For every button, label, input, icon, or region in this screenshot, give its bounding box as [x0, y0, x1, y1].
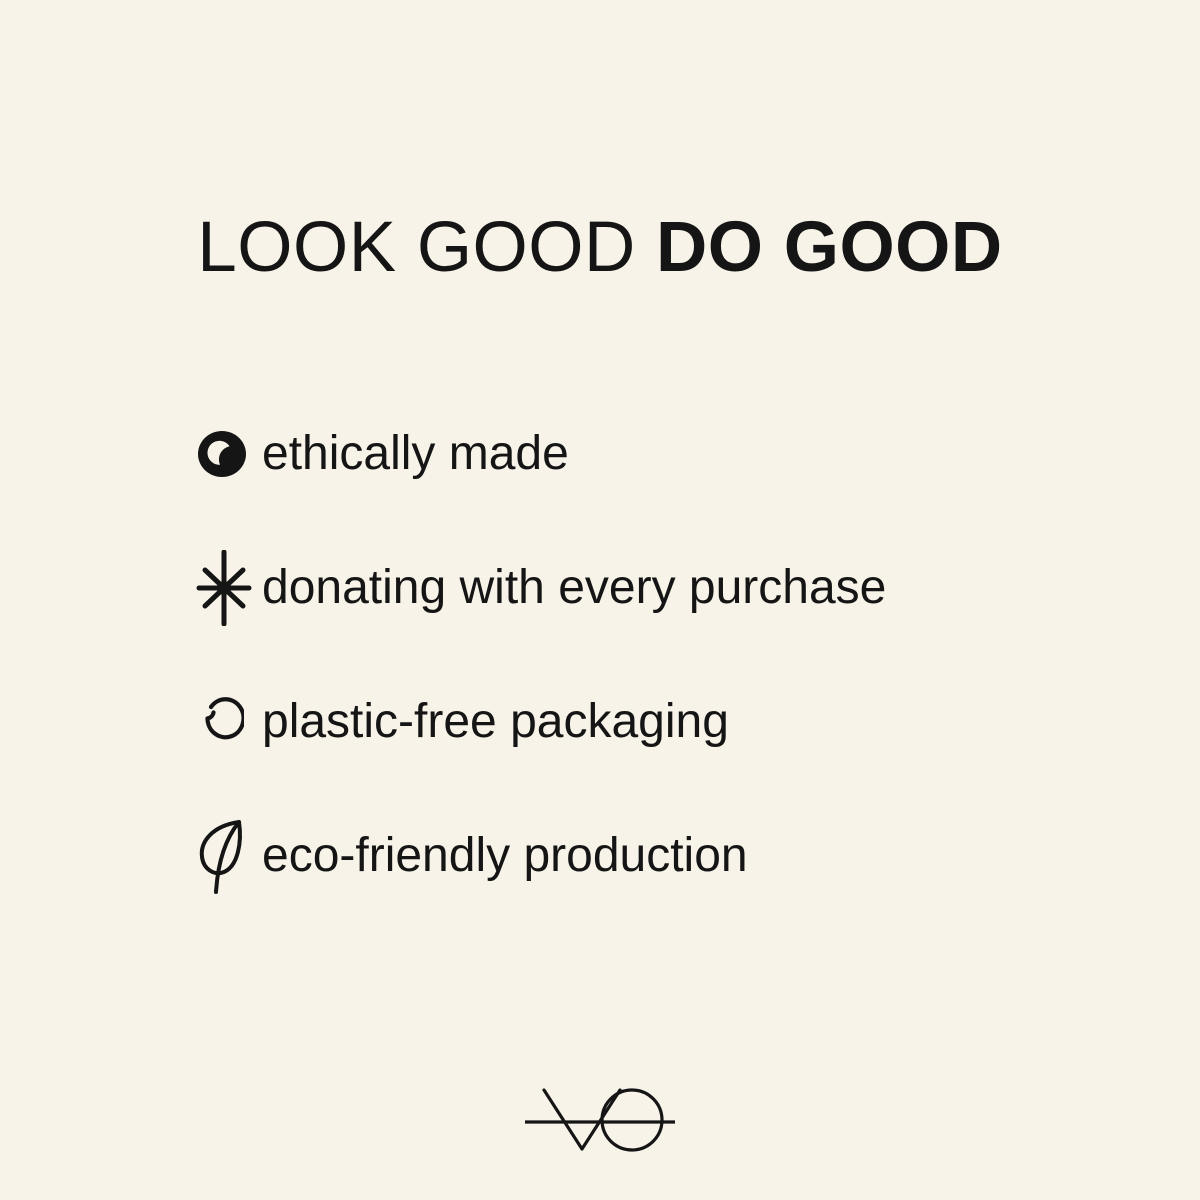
list-item: ethically made	[196, 408, 1096, 500]
list-item-label: donating with every purchase	[262, 564, 886, 612]
list-item-label: eco-friendly production	[262, 832, 748, 880]
crescent-circle-icon	[196, 408, 262, 500]
eight-point-star-icon	[196, 542, 262, 634]
list-item: donating with every purchase	[196, 542, 1096, 634]
feature-list: ethically made donating with every purch…	[196, 408, 1096, 902]
poster-canvas: LOOK GOOD DO GOOD ethically made	[0, 0, 1200, 1200]
page-title-light: LOOK GOOD	[197, 208, 656, 287]
vo-brand-logo[interactable]	[0, 1082, 1200, 1156]
leaf-icon	[196, 810, 262, 902]
page-title: LOOK GOOD DO GOOD	[0, 212, 1200, 283]
open-circle-hook-icon	[196, 676, 262, 768]
list-item-label: ethically made	[262, 430, 569, 478]
page-title-bold: DO GOOD	[656, 208, 1003, 287]
list-item-label: plastic-free packaging	[262, 698, 729, 746]
list-item: eco-friendly production	[196, 810, 1096, 902]
list-item: plastic-free packaging	[196, 676, 1096, 768]
